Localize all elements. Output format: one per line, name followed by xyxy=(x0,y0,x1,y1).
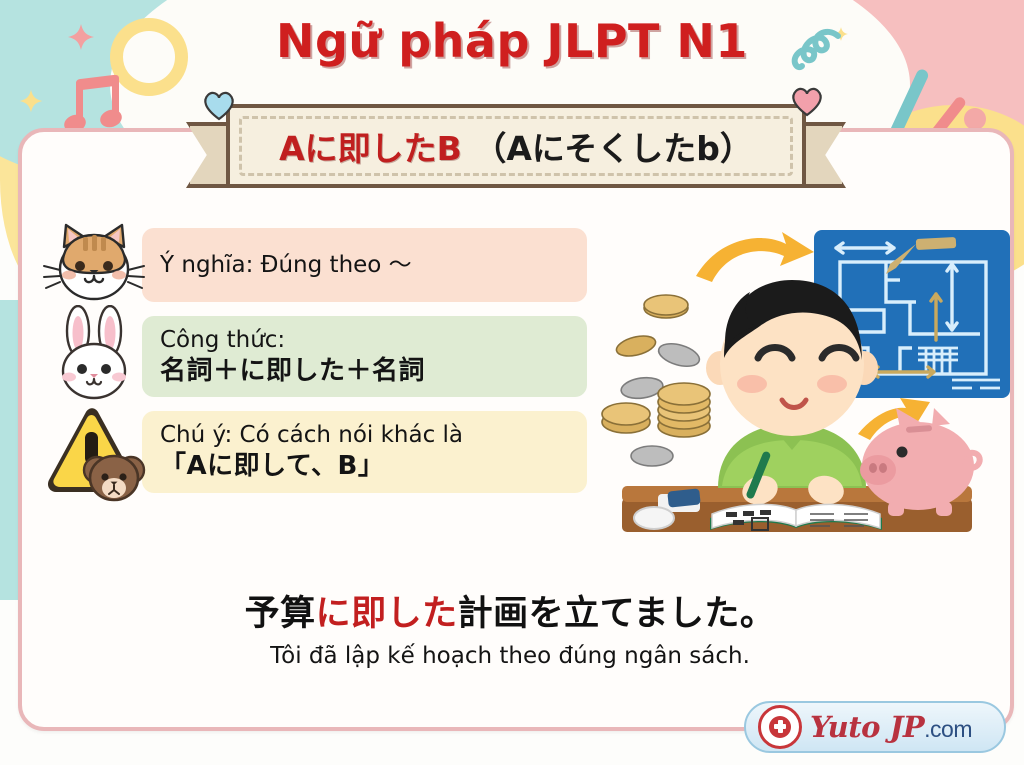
rabbit-icon xyxy=(42,305,146,409)
example-japanese: 予算に即した計画を立てました。 xyxy=(150,585,870,636)
coins-icon xyxy=(602,295,710,466)
cat-icon xyxy=(42,213,146,317)
boy-studying-budget-illustration xyxy=(600,218,1020,578)
example-block: 予算に即した計画を立てました。 Tôi đã lập kế hoạch theo… xyxy=(150,585,870,669)
grammar-banner: Aに即したB （Aにそくしたb） xyxy=(186,104,846,190)
formula-text: 名詞＋に即した＋名詞 xyxy=(160,355,573,388)
warning-bear-icon xyxy=(42,400,146,504)
example-jp-before: 予算 xyxy=(245,594,316,634)
heart-icon-blue xyxy=(202,90,236,121)
example-vietnamese: Tôi đã lập kế hoạch theo đúng ngân sách. xyxy=(150,643,870,669)
info-row-note: Chú ý: Có cách nói khác là 「Aに即して、B」 xyxy=(42,411,587,492)
info-rows: Ý nghĩa: Đúng theo 〜 xyxy=(42,228,587,507)
star-icon-yellow xyxy=(18,88,44,120)
heart-icon-pink xyxy=(790,86,824,117)
grammar-point-text: Aに即したB （Aにそくしたb） xyxy=(279,122,753,170)
page-title: Ngữ pháp JLPT N1 xyxy=(0,14,1024,68)
ribbon-body: Aに即したB （Aにそくしたb） xyxy=(226,104,806,188)
grammar-point-reading: （Aにそくしたb） xyxy=(473,129,753,168)
music-note-icon xyxy=(64,75,134,135)
dot-icon-pink xyxy=(964,108,986,130)
note-alt-form: 「Aに即して、B」 xyxy=(160,450,573,483)
example-jp-after: 計画を立てました。 xyxy=(458,594,776,634)
yuto-circle-icon xyxy=(758,705,802,749)
poster-canvas: Ngữ pháp JLPT N1 Aに即したB （Aにそくしたb） Ý nghĩ… xyxy=(0,0,1024,765)
example-jp-highlight: に即した xyxy=(316,594,458,634)
note-label: Chú ý: Có cách nói khác là xyxy=(160,421,573,450)
info-row-formula: Công thức: 名詞＋に即した＋名詞 xyxy=(42,316,587,397)
logo-tld: .com xyxy=(924,716,972,742)
logo-text: Yuto JP.com xyxy=(810,710,972,744)
site-logo[interactable]: Yuto JP.com xyxy=(744,701,1006,753)
logo-name: Yuto JP xyxy=(810,710,924,744)
grammar-point-main: Aに即したB xyxy=(279,129,462,168)
formula-label: Công thức: xyxy=(160,326,573,355)
boy-writing-icon xyxy=(706,280,878,509)
bear-icon xyxy=(84,456,144,500)
info-row-meaning: Ý nghĩa: Đúng theo 〜 xyxy=(42,228,587,302)
meaning-text: Ý nghĩa: Đúng theo 〜 xyxy=(160,251,573,280)
